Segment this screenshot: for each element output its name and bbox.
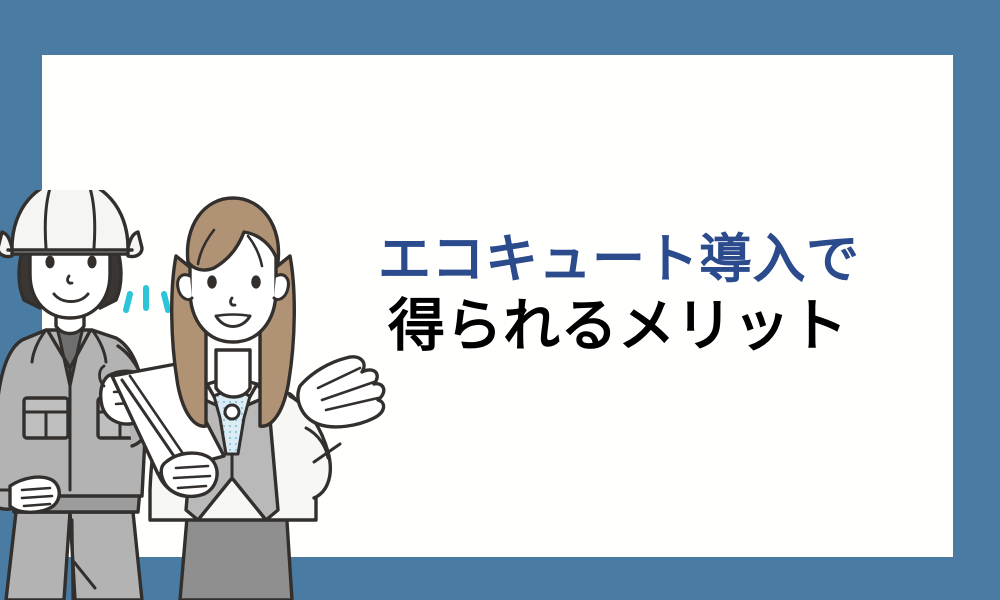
people-illustration xyxy=(0,190,400,600)
banner-root: エコキュート導入で 得られるメリット xyxy=(0,0,1000,600)
female-staff-figure xyxy=(112,198,384,600)
headline-block: エコキュート導入で 得られるメリット xyxy=(378,232,878,357)
headline-line-2: 得られるメリット xyxy=(388,296,878,356)
headline-line-1: エコキュート導入で xyxy=(378,232,878,288)
sparkle-marks xyxy=(126,288,168,310)
